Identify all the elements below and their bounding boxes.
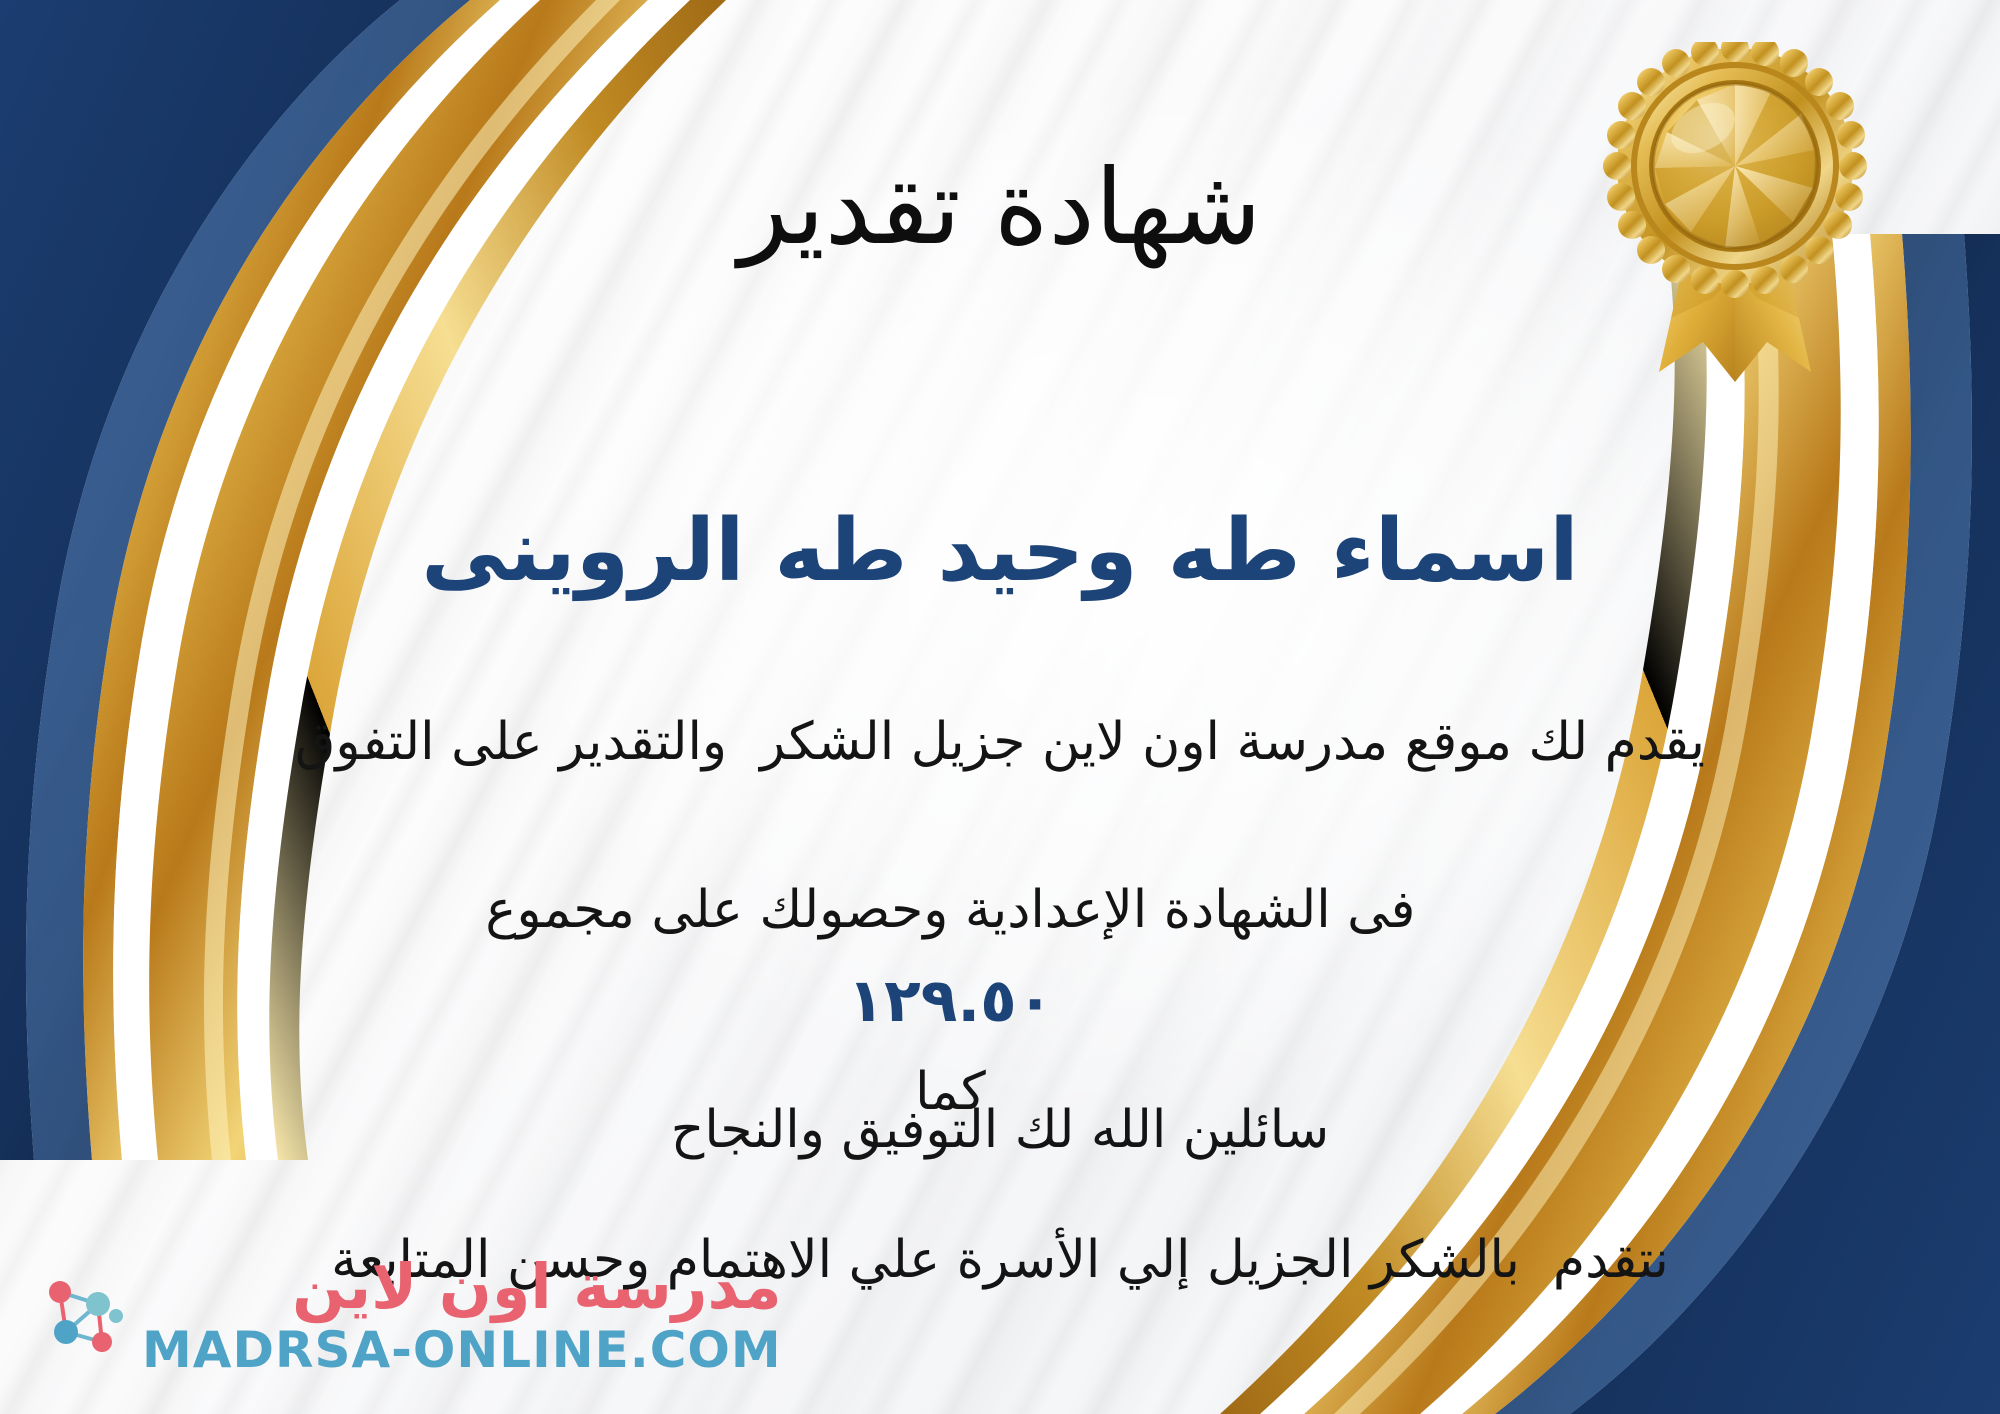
network-nodes-icon — [40, 1270, 126, 1362]
closing-wish: سائلين الله لك التوفيق والنجاح — [0, 1100, 2000, 1160]
score-value: ١٢٩.٥٠ — [833, 953, 1067, 1050]
certificate-title: شهادة تقدير — [0, 150, 2000, 264]
recipient-name: اسماء طه وحيد طه الروينى — [0, 500, 2000, 603]
certificate-canvas: شهادة تقدير اسماء طه وحيد طه الروينى يقد… — [0, 0, 2000, 1414]
certificate-body: يقدم لك موقع مدرسة اون لاين جزيل الشكر و… — [150, 700, 1850, 1303]
body-line-1: يقدم لك موقع مدرسة اون لاين جزيل الشكر و… — [150, 700, 1850, 784]
brand-website: MADRSA-ONLINE.COM — [142, 1324, 782, 1377]
brand-text-block: مدرسة اون لاين MADRSA-ONLINE.COM — [142, 1256, 782, 1377]
brand-arabic-name: مدرسة اون لاين — [292, 1256, 782, 1318]
brand-logo[interactable]: مدرسة اون لاين MADRSA-ONLINE.COM — [40, 1256, 782, 1377]
body-line-2-prefix: فى الشهادة الإعدادية وحصولك على مجموع — [485, 880, 1415, 940]
